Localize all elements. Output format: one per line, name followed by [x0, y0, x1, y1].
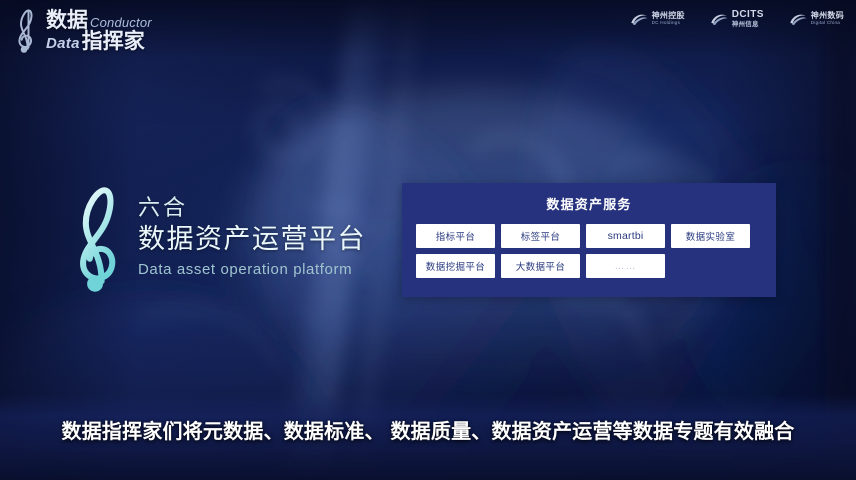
- service-card-mining[interactable]: 数据挖掘平台: [416, 254, 495, 278]
- partner-cn-1: DCITS: [732, 10, 764, 21]
- partner-en-0: DC Holdings: [652, 21, 685, 26]
- partner-cn-0: 神州控股: [652, 12, 685, 20]
- partner-text-2: 神州数码 Digital China: [811, 12, 844, 26]
- data-asset-service-panel: 数据资产服务 指标平台 标签平台 smartbi 数据实验室 数据挖掘平台 大数…: [402, 183, 776, 297]
- brand-en-secondary: Data: [46, 36, 82, 51]
- partner-logo-2: 神州数码 Digital China: [788, 11, 844, 27]
- title-line-2: 数据资产运营平台: [138, 222, 366, 257]
- partner-en-2: Digital China: [811, 21, 844, 26]
- treble-clef-icon: [70, 183, 128, 295]
- partner-en-1: 神州信息: [732, 22, 764, 29]
- swirl-mark-icon: [709, 11, 729, 27]
- title-line-3: Data asset operation platform: [138, 259, 366, 282]
- partner-text-0: 神州控股 DC Holdings: [652, 12, 685, 26]
- platform-title-text: 六合 数据资产运营平台 Data asset operation platfor…: [138, 194, 366, 283]
- platform-title-block: 六合 数据资产运营平台 Data asset operation platfor…: [70, 183, 366, 295]
- title-line-1: 六合: [138, 194, 366, 222]
- partner-logo-bar: 神州控股 DC Holdings DCITS 神州信息 神州数码 Digital…: [629, 10, 844, 28]
- slide-canvas: 数据 Conductor Data 指挥家 神州控股 DC Holdings: [0, 0, 856, 480]
- brand-logo: 数据 Conductor Data 指挥家: [12, 6, 152, 54]
- brand-cn-primary: 数据: [46, 10, 88, 31]
- partner-logo-1: DCITS 神州信息: [709, 10, 764, 28]
- partner-cn-2: 神州数码: [811, 12, 844, 20]
- partner-logo-0: 神州控股 DC Holdings: [629, 11, 685, 27]
- brand-line-1: 数据 Conductor: [46, 10, 152, 31]
- slide-caption: 数据指挥家们将元数据、数据标准、 数据质量、数据资产运营等数据专题有效融合: [0, 415, 856, 444]
- brand-line-2: Data 指挥家: [46, 31, 152, 52]
- service-card-lab[interactable]: 数据实验室: [671, 224, 750, 248]
- treble-clef-icon: [12, 6, 42, 54]
- service-card-zhibiao[interactable]: 指标平台: [416, 224, 495, 248]
- swirl-mark-icon: [788, 11, 808, 27]
- service-card-smartbi[interactable]: smartbi: [586, 224, 665, 248]
- swirl-mark-icon: [629, 11, 649, 27]
- brand-text: 数据 Conductor Data 指挥家: [46, 8, 152, 52]
- partner-text-1: DCITS 神州信息: [732, 10, 764, 28]
- brand-en-primary: Conductor: [88, 16, 152, 29]
- service-card-biaoqian[interactable]: 标签平台: [501, 224, 580, 248]
- service-card-grid: 指标平台 标签平台 smartbi 数据实验室 数据挖掘平台 大数据平台 ……: [402, 213, 776, 278]
- service-card-bigdata[interactable]: 大数据平台: [501, 254, 580, 278]
- service-card-more[interactable]: ……: [586, 254, 665, 278]
- panel-title: 数据资产服务: [402, 183, 776, 213]
- brand-cn-secondary: 指挥家: [82, 31, 145, 52]
